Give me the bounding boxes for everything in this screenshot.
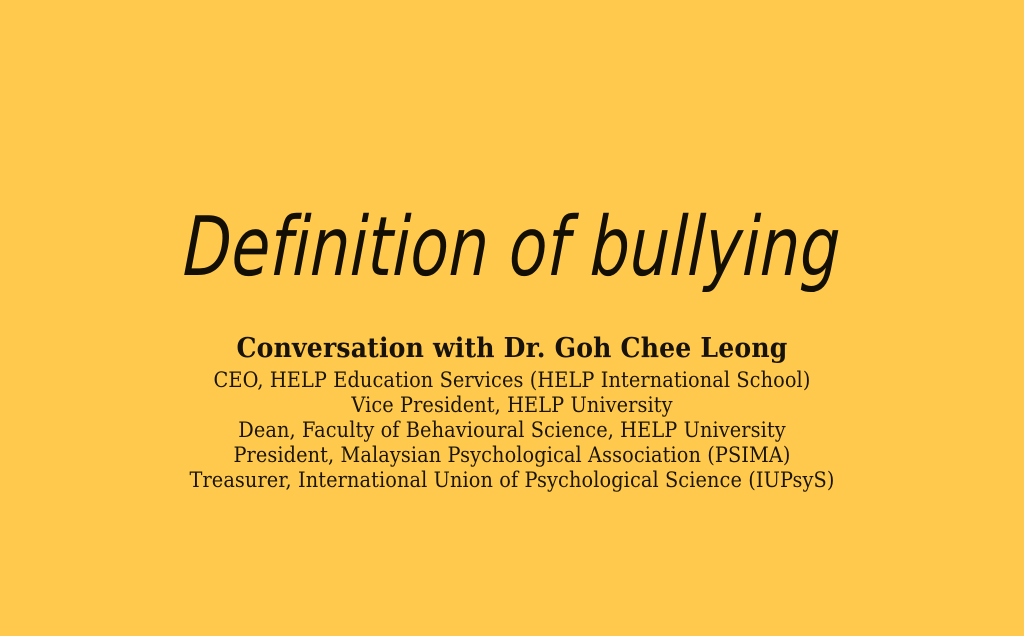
presentation-slide: Definition of bullying Conversation with… <box>0 0 1024 636</box>
credential-line-vice-president: Vice President, HELP University <box>41 393 983 418</box>
credential-line-treasurer: Treasurer, International Union of Psycho… <box>41 468 983 493</box>
title-block: Definition of bullying <box>0 206 1024 290</box>
conversation-heading: Conversation with Dr. Goh Chee Leong <box>36 333 988 364</box>
credential-line-ceo: CEO, HELP Education Services (HELP Inter… <box>41 368 983 393</box>
subtitle-block: Conversation with Dr. Goh Chee Leong CEO… <box>0 333 1024 493</box>
slide-title: Definition of bullying <box>121 206 903 290</box>
credential-line-president: President, Malaysian Psychological Assoc… <box>41 443 983 468</box>
credential-line-dean: Dean, Faculty of Behavioural Science, HE… <box>41 418 983 443</box>
